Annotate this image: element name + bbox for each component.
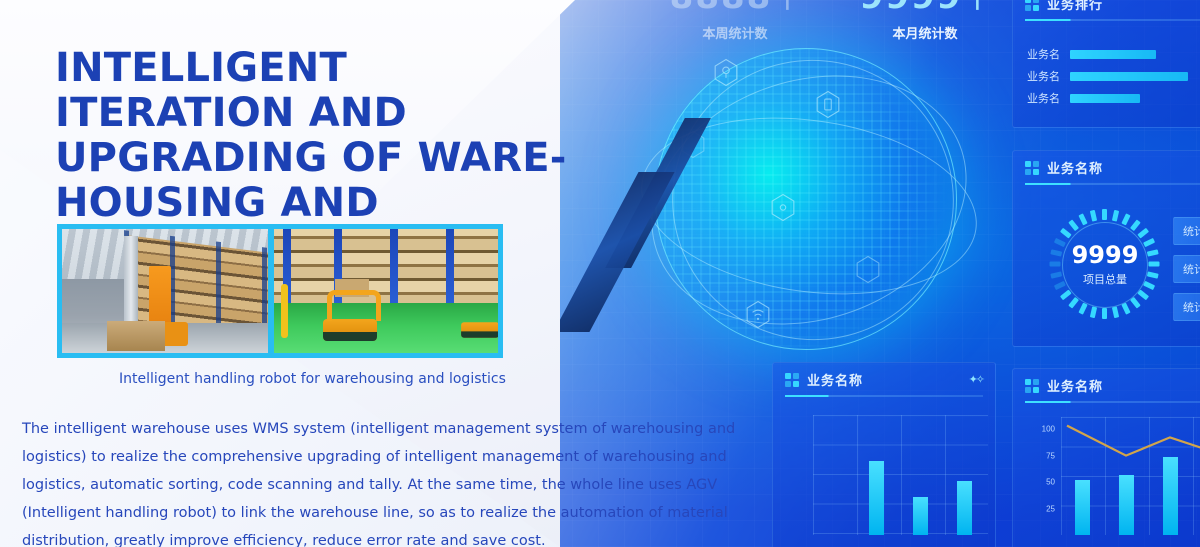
month-stat-unit: 个 <box>966 0 990 14</box>
photo-gallery <box>57 224 503 358</box>
card-business-gauge[interactable]: 业务名称 9999 项目总量 统计人数 统计人数 统计人数 <box>1012 150 1200 347</box>
photo-1-pallet-load <box>107 321 165 351</box>
location-pin-icon <box>713 58 739 87</box>
grid-dots-icon <box>1025 161 1039 175</box>
card-gauge-header: 业务名称 <box>1013 151 1200 183</box>
y-tick-label: 50 <box>1046 478 1055 487</box>
list-item[interactable]: 业务名 <box>1013 65 1200 87</box>
photo-2-safety-post <box>281 284 288 339</box>
card-ranking-divider <box>1025 19 1200 21</box>
y-tick-label: 25 <box>1046 505 1055 514</box>
card-business-chart-left[interactable]: 业务名称 ✦✧ <box>772 362 996 547</box>
stat-pill-label: 统计人数 <box>1183 299 1200 315</box>
card-gauge-title: 业务名称 <box>1047 158 1103 177</box>
card-chart-divider <box>1025 401 1200 403</box>
agv-base <box>461 331 498 337</box>
grid-dots-icon <box>1025 379 1039 393</box>
rank-label: 业务名 <box>1027 68 1060 84</box>
sparkle-icon: ✦✧ <box>969 373 983 386</box>
card-ranking-title: 业务排行 <box>1047 0 1103 13</box>
list-item[interactable]: 业务名 <box>1013 43 1200 65</box>
network-node-icon <box>770 193 796 222</box>
stat-pill-label: 统计人数 <box>1183 223 1200 239</box>
card-chart-title: 业务名称 <box>1047 376 1103 395</box>
gauge-dial: 9999 项目总量 <box>1049 209 1159 319</box>
photo-2-racking <box>274 229 498 306</box>
ranking-list: 业务名 业务名 业务名 <box>1013 43 1200 109</box>
agv-robot <box>461 322 498 337</box>
top-stat-month: 9999个 本月统计数 <box>850 0 1000 42</box>
grid-dots-icon <box>785 373 799 387</box>
week-stat-value: 8888个 <box>660 0 810 17</box>
chart-trend-line <box>1061 417 1200 535</box>
agv-robot <box>323 319 377 341</box>
card-chart-left-header: 业务名称 ✦✧ <box>773 363 995 395</box>
stat-pill-label: 统计人数 <box>1183 261 1200 277</box>
photo-1-column <box>124 236 138 325</box>
photo-2-rack-post <box>390 229 398 306</box>
card-chart-left-divider <box>785 395 983 397</box>
agv-base <box>323 332 377 341</box>
rank-bar <box>1070 72 1188 81</box>
rank-label: 业务名 <box>1027 90 1060 106</box>
photo-warehouse-forklift <box>62 229 268 353</box>
photo-caption: Intelligent handling robot for warehousi… <box>119 371 506 387</box>
agv-handle <box>327 290 381 321</box>
chart-bar <box>913 497 928 535</box>
list-item[interactable]: 业务名 <box>1013 87 1200 109</box>
week-stat-label: 本周统计数 <box>660 23 810 42</box>
rank-bar <box>1070 94 1140 103</box>
card-business-ranking[interactable]: 业务排行 业务名 业务名 业务名 <box>1012 0 1200 128</box>
gauge-center: 9999 项目总量 <box>1062 222 1148 308</box>
cloud-node-icon <box>855 255 881 284</box>
chart-plot: 100 75 50 25 <box>1061 417 1200 535</box>
top-stat-week: 8888个 本周统计数 <box>660 0 810 42</box>
grid-dots-icon <box>1025 0 1039 11</box>
body-paragraph: The intelligent warehouse uses WMS syste… <box>22 415 762 547</box>
gauge-caption: 项目总量 <box>1083 271 1127 287</box>
photo-agv-robots <box>274 229 498 353</box>
stat-pill[interactable]: 统计人数 <box>1173 293 1200 321</box>
card-chart-left-title: 业务名称 <box>807 370 863 389</box>
wifi-icon <box>745 300 771 329</box>
chart-bar <box>869 461 884 535</box>
gauge-value: 9999 <box>1072 243 1139 267</box>
card-ranking-header: 业务排行 <box>1013 0 1200 19</box>
stat-pill[interactable]: 统计人数 <box>1173 255 1200 283</box>
month-stat-value: 9999个 <box>850 0 1000 17</box>
card-business-chart[interactable]: 业务名称 100 75 50 25 <box>1012 368 1200 547</box>
stat-pill[interactable]: 统计人数 <box>1173 217 1200 245</box>
month-stat-label: 本月统计数 <box>850 23 1000 42</box>
banner-stage: 8888个 本周统计数 9999个 本月统计数 业务排行 业务名 业务名 业务名 <box>0 0 1200 547</box>
chart-bar <box>957 481 972 535</box>
y-tick-label: 75 <box>1046 451 1055 460</box>
y-tick-label: 100 <box>1042 425 1055 434</box>
card-chart-header: 业务名称 <box>1013 369 1200 401</box>
mobile-device-icon <box>815 90 841 119</box>
week-stat-unit: 个 <box>776 0 800 14</box>
rank-label: 业务名 <box>1027 46 1060 62</box>
rank-bar <box>1070 50 1156 59</box>
chart-plot-left <box>813 415 988 535</box>
photo-2-rack-post <box>446 229 454 306</box>
card-gauge-divider <box>1025 183 1200 185</box>
